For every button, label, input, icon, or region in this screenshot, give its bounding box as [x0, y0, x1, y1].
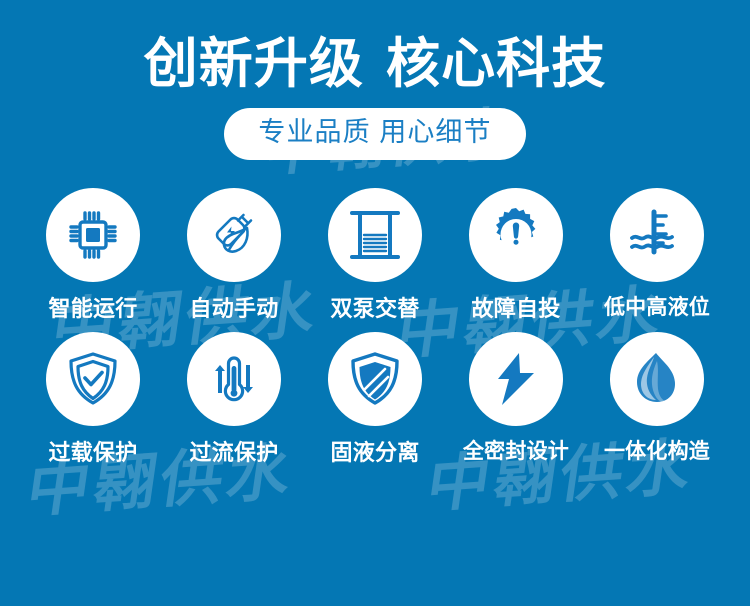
promo-poster: 中翱供水 中翱供水 中翱供水 中翱供水 中翱供水 创新升级核心科技 专业品质 用…: [0, 0, 750, 606]
cpu-chip-icon: [65, 207, 121, 263]
feature-item-overload-protection[interactable]: 过载保护: [23, 332, 164, 465]
icon-badge: [610, 332, 704, 426]
feature-item-solid-liquid-separation[interactable]: 固液分离: [305, 332, 446, 465]
page-title-part1: 创新升级: [144, 34, 364, 94]
feature-label: 固液分离: [331, 440, 420, 465]
feature-item-overcurrent-protection[interactable]: 过流保护: [164, 332, 305, 465]
feature-label: 自动手动: [190, 296, 279, 321]
feature-item-auto-manual[interactable]: 自动手动: [164, 188, 305, 321]
page-title: 创新升级核心科技: [0, 34, 750, 94]
icon-badge: [187, 188, 281, 282]
feature-label: 智能运行: [49, 296, 138, 321]
feature-row-1: 智能运行 自: [0, 188, 750, 321]
page-title-part2: 核心科技: [386, 34, 606, 94]
dual-pump-scroll-icon: [348, 207, 402, 263]
icon-badge: [610, 188, 704, 282]
icon-badge: [469, 188, 563, 282]
icon-badge: [187, 332, 281, 426]
feature-item-smart-operation[interactable]: 智能运行: [23, 188, 164, 321]
shield-check-icon: [65, 350, 121, 408]
gear-alert-icon: [487, 206, 545, 264]
feature-item-integrated-structure[interactable]: 一体化构造: [587, 332, 728, 464]
feature-label: 一体化构造: [604, 440, 710, 464]
feature-label: 过载保护: [49, 440, 138, 465]
feature-label: 低中高液位: [604, 296, 710, 320]
water-level-gauge-icon: [628, 207, 686, 263]
tagline-badge: 专业品质 用心细节: [224, 108, 525, 160]
thermometer-arrows-icon: [206, 350, 262, 408]
feature-item-dual-pump[interactable]: 双泵交替: [305, 188, 446, 321]
icon-badge: [328, 332, 422, 426]
feature-label: 全密封设计: [463, 440, 569, 464]
feature-row-2: 过载保护: [0, 332, 750, 465]
lightning-bolt-icon: [489, 350, 543, 408]
icon-badge: [46, 188, 140, 282]
poster-header: 创新升级核心科技 专业品质 用心细节: [0, 0, 750, 160]
feature-label: 双泵交替: [331, 296, 420, 321]
icon-badge: [46, 332, 140, 426]
badge-container: 专业品质 用心细节: [0, 108, 750, 160]
shield-stripes-icon: [347, 350, 403, 408]
eco-plug-icon: [205, 206, 263, 264]
feature-label: 故障自投: [472, 296, 561, 321]
feature-item-fully-sealed-design[interactable]: 全密封设计: [446, 332, 587, 464]
leaf-flame-icon: [630, 350, 684, 408]
feature-item-water-levels[interactable]: 低中高液位: [587, 188, 728, 320]
feature-item-fault-switchover[interactable]: 故障自投: [446, 188, 587, 321]
icon-badge: [469, 332, 563, 426]
icon-badge: [328, 188, 422, 282]
feature-grid: 智能运行 自: [0, 188, 750, 465]
feature-label: 过流保护: [190, 440, 279, 465]
